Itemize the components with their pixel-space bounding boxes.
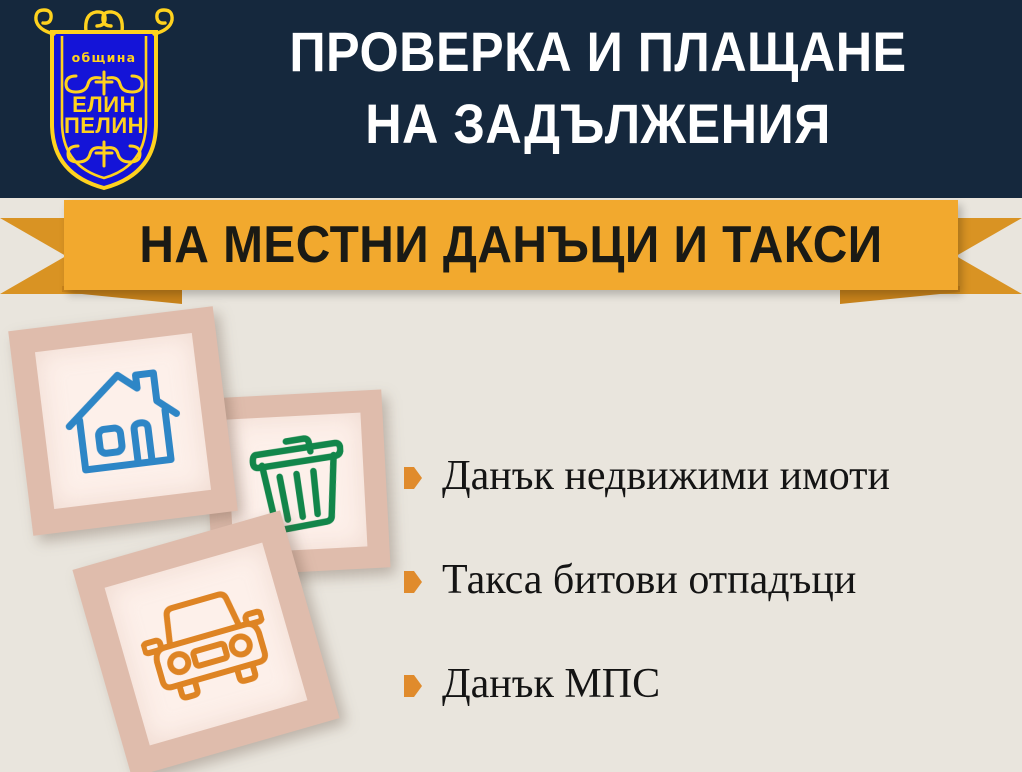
page-title: ПРОВЕРКА И ПЛАЩАНЕ НА ЗАДЪЛЖЕНИЯ [188, 16, 1008, 160]
poster-canvas: община ЕЛИН ПЕЛИН ПРОВЕРКА И ПЛАЩАНЕ НА … [0, 0, 1022, 772]
arrow-bullet-icon [404, 675, 422, 697]
tax-item-label: Данък недвижими имоти [442, 454, 890, 498]
municipality-crest-logo: община ЕЛИН ПЕЛИН [28, 6, 180, 192]
car-icon [131, 577, 281, 712]
list-item[interactable]: Данък недвижими имоти [404, 424, 1014, 528]
crest-top-word: община [28, 50, 180, 65]
house-icon [57, 358, 190, 484]
ribbon-band: НА МЕСТНИ ДАНЪЦИ И ТАКСИ [64, 200, 958, 290]
stamp-card-property [8, 306, 238, 536]
title-line-1: ПРОВЕРКА И ПЛАЩАНЕ [229, 16, 967, 88]
subtitle-ribbon: НА МЕСТНИ ДАНЪЦИ И ТАКСИ [0, 200, 1022, 305]
stamp-inner-area [35, 333, 211, 509]
ribbon-label: НА МЕСТНИ ДАНЪЦИ И ТАКСИ [100, 200, 922, 290]
list-item[interactable]: Данък МПС [404, 632, 1014, 736]
tax-item-label: Данък МПС [442, 662, 660, 706]
crest-name-line2: ПЕЛИН [28, 115, 180, 136]
crest-name-line1: ЕЛИН [28, 94, 180, 115]
tax-item-label: Такса битови отпадъци [442, 558, 856, 602]
crest-municipality-name: ЕЛИН ПЕЛИН [28, 94, 180, 136]
arrow-bullet-icon [404, 467, 422, 489]
tax-types-list: Данък недвижими имоти Такса битови отпад… [404, 424, 1014, 736]
list-item[interactable]: Такса битови отпадъци [404, 528, 1014, 632]
arrow-bullet-icon [404, 571, 422, 593]
title-line-2: НА ЗАДЪЛЖЕНИЯ [229, 88, 967, 160]
